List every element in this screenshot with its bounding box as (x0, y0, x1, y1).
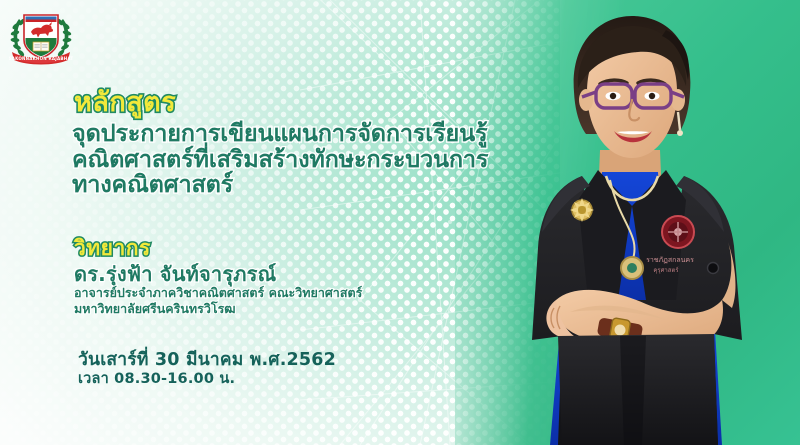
speaker-portrait-photo: ราชภัฏสกลนคร คุรุศาสตร์ (470, 0, 800, 445)
speaker-affiliation-line-1: อาจารย์ประจำภาควิชาคณิตศาสตร์ คณะวิทยาศา… (74, 285, 494, 301)
svg-text:ราชภัฏสกลนคร: ราชภัฏสกลนคร (646, 256, 694, 264)
event-time: เวลา 08.30-16.00 น. (78, 367, 235, 390)
svg-text:SAKONNAKHON RAJABHAT: SAKONNAKHON RAJABHAT (9, 56, 74, 61)
seminar-poster: SAKONNAKHON RAJABHAT หลักสูตร จุดประกายก… (0, 0, 800, 445)
university-crest-logo: SAKONNAKHON RAJABHAT (7, 5, 75, 67)
svg-text:คุรุศาสตร์: คุรุศาสตร์ (653, 266, 679, 274)
program-kicker-label: หลักสูตร (74, 80, 176, 123)
speaker-affiliation-line-2: มหาวิทยาลัยศรีนครินทรวิโรฒ (74, 301, 494, 317)
speaker-affiliation: อาจารย์ประจำภาควิชาคณิตศาสตร์ คณะวิทยาศา… (74, 285, 494, 317)
